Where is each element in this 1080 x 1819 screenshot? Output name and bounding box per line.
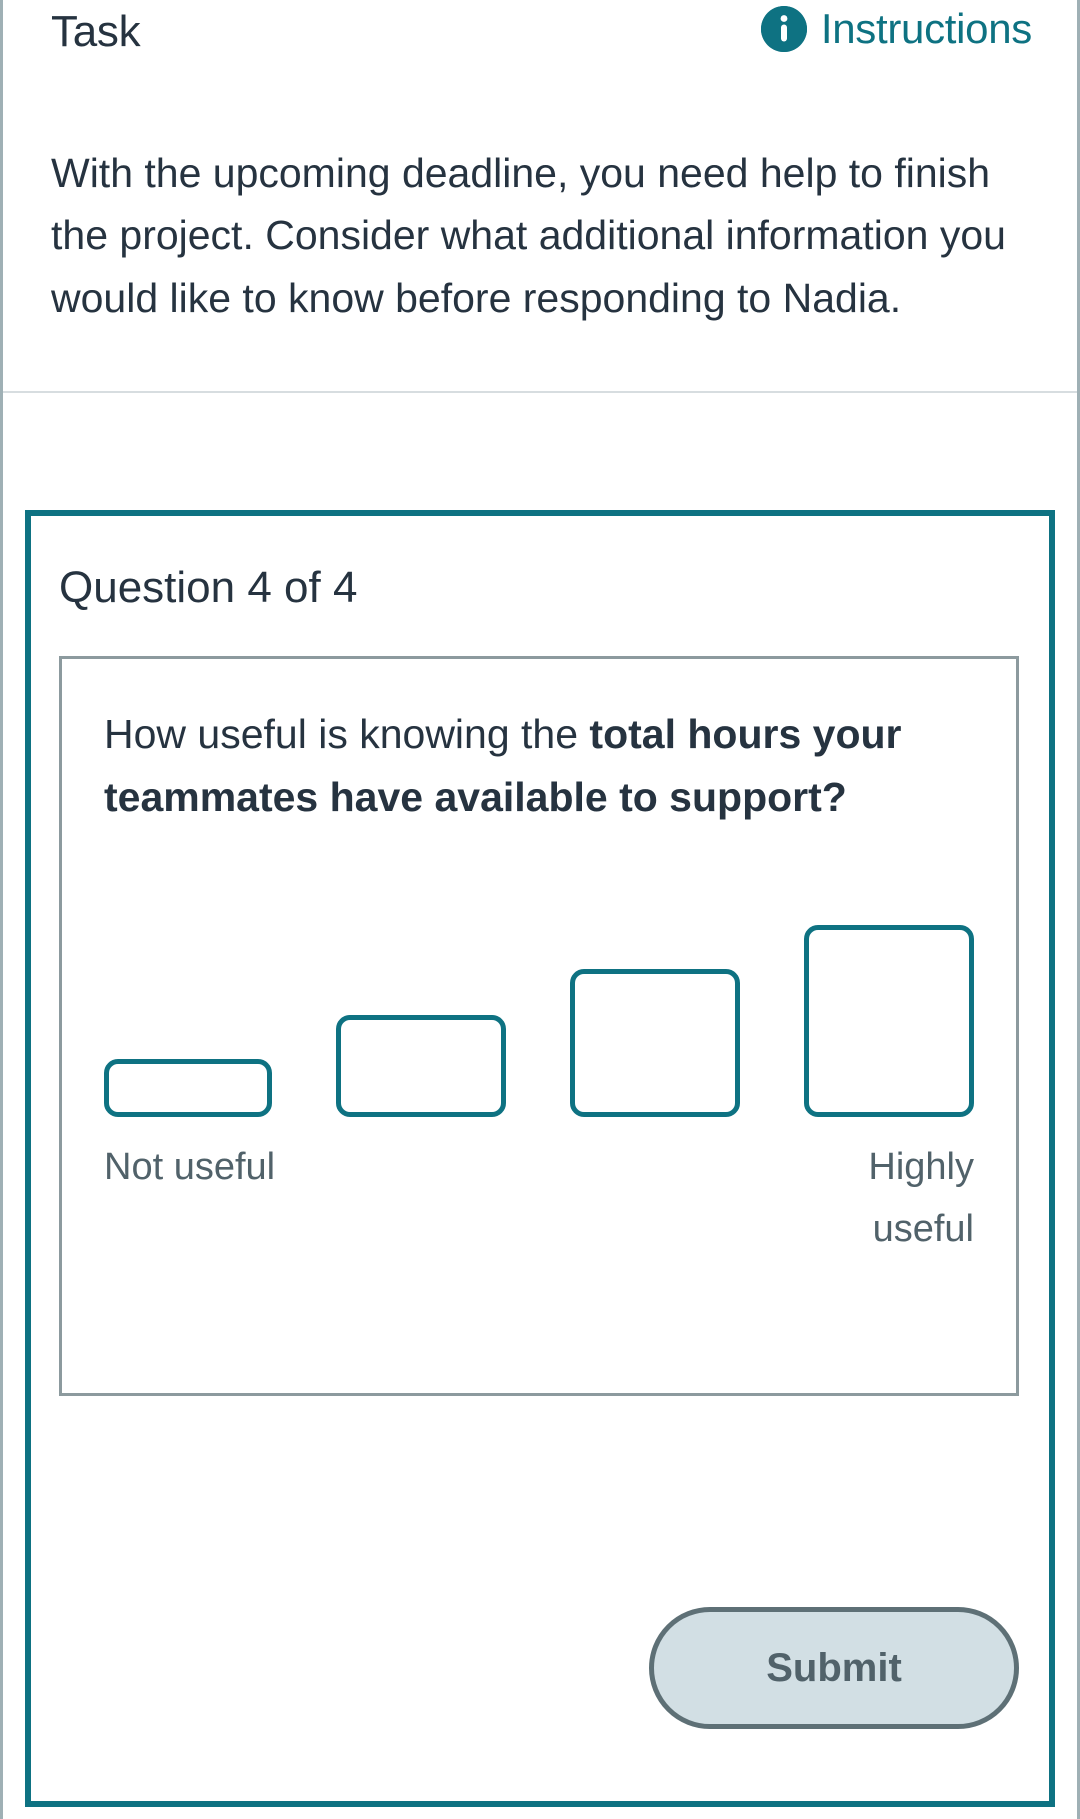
task-prompt-text: With the upcoming deadline, you need hel… xyxy=(51,142,1011,329)
question-text-lead: How useful is knowing the xyxy=(104,711,589,757)
question-card: Question 4 of 4 How useful is knowing th… xyxy=(25,510,1055,1807)
scale-label-high: Highly useful xyxy=(764,1137,974,1260)
question-text: How useful is knowing the total hours yo… xyxy=(104,703,974,828)
submit-row: Submit xyxy=(649,1607,1019,1729)
page-title: Task xyxy=(51,8,140,56)
rating-option-3[interactable] xyxy=(570,969,740,1117)
instructions-label: Instructions xyxy=(821,6,1032,52)
instructions-button[interactable]: Instructions xyxy=(761,6,1032,52)
rating-scale-labels: Not useful Highly useful xyxy=(104,1137,974,1260)
rating-option-1[interactable] xyxy=(104,1059,272,1117)
rating-panel: How useful is knowing the total hours yo… xyxy=(59,656,1019,1396)
scale-label-low: Not useful xyxy=(104,1137,275,1260)
task-prompt-section: With the upcoming deadline, you need hel… xyxy=(3,90,1077,393)
submit-button[interactable]: Submit xyxy=(649,1607,1019,1729)
rating-option-4[interactable] xyxy=(804,925,974,1117)
rating-option-2[interactable] xyxy=(336,1015,506,1117)
info-circle-icon xyxy=(761,6,807,52)
rating-scale-bars xyxy=(104,917,974,1117)
task-header: Task Instructions xyxy=(3,0,1077,90)
question-progress-heading: Question 4 of 4 xyxy=(31,516,1049,612)
